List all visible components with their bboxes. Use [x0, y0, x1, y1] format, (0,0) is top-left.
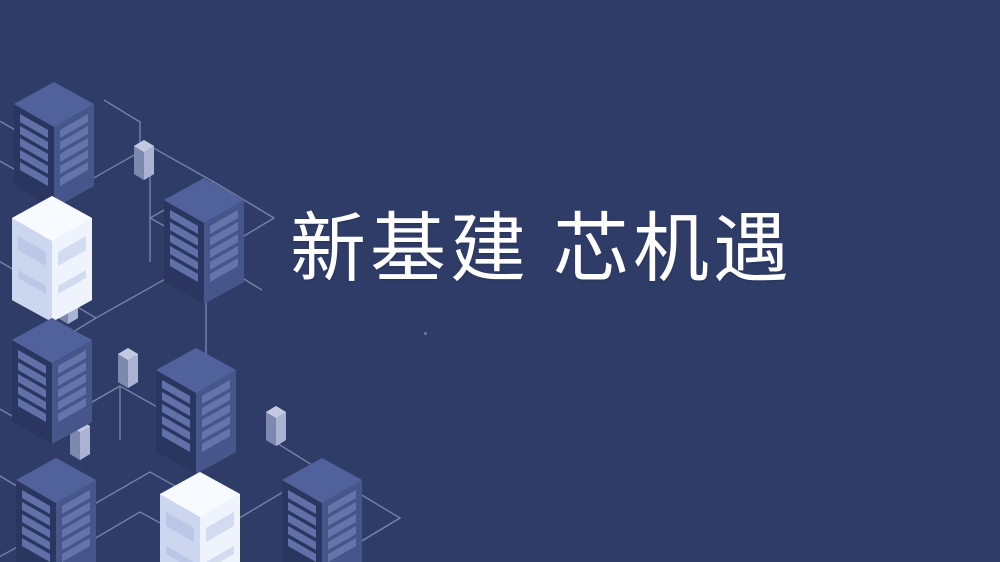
title-block: 新基建 芯机遇 — [290, 196, 930, 306]
decorative-dot — [424, 332, 427, 335]
page-title: 新基建 芯机遇 — [290, 211, 793, 291]
presentation-slide: 新基建 芯机遇 — [0, 0, 1000, 562]
